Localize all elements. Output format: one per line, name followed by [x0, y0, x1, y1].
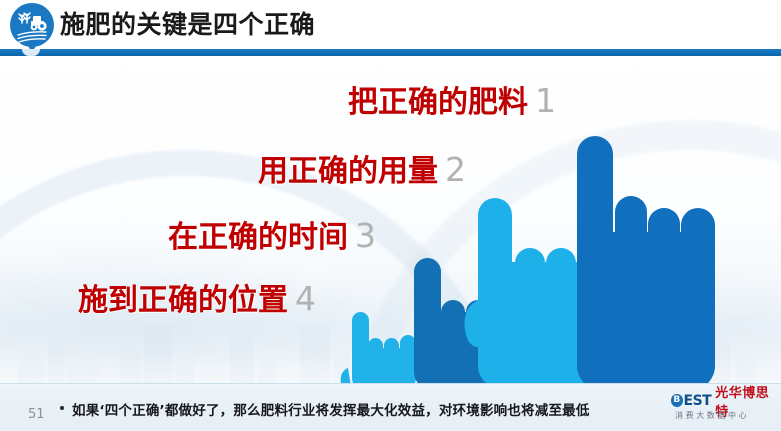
hand-1 — [577, 136, 715, 390]
page-number: 51 — [28, 407, 45, 422]
page-title: 施肥的关键是四个正确 — [60, 8, 315, 42]
brand-tagline: 消费大数据中心 — [675, 410, 749, 421]
farm-pin-logo-icon — [10, 3, 54, 55]
principle-line-2: 用正确的用量2 — [258, 152, 466, 190]
principle-number-3: 3 — [348, 216, 376, 255]
slide-header: 施肥的关键是四个正确 — [0, 0, 781, 56]
footer-bullet-text: 如果‘四个正确’都做好了，那么肥料行业将发挥最大化效益，对环境影响也将减至最低 — [72, 399, 590, 419]
principle-number-2: 2 — [438, 150, 466, 189]
principle-text-1: 把正确的肥料 — [348, 85, 528, 120]
principle-line-1: 把正确的肥料1 — [348, 83, 556, 121]
brand-logo: B EST 光华博思特 消费大数据中心 — [671, 391, 775, 425]
tractor-field-glyph — [10, 3, 54, 47]
principle-line-4: 施到正确的位置4 — [78, 281, 316, 319]
slide-canvas: 施肥的关键是四个正确 把正确的肥料1 用正确的用量2 在正确的时间3 施到正确的… — [0, 0, 781, 431]
principle-number-4: 4 — [288, 279, 316, 318]
principle-number-1: 1 — [528, 81, 556, 120]
footer-band: 51 如果‘四个正确’都做好了，那么肥料行业将发挥最大化效益，对环境影响也将减至… — [0, 383, 781, 431]
brand-mark-icon: B — [671, 394, 683, 407]
four-pointing-hands — [0, 0, 781, 431]
principle-line-3: 在正确的时间3 — [168, 218, 376, 256]
hand-4 — [341, 312, 416, 392]
header-rule — [0, 49, 781, 56]
principle-text-2: 用正确的用量 — [258, 154, 438, 189]
brand-latin: EST — [684, 393, 712, 409]
principle-text-3: 在正确的时间 — [168, 220, 348, 255]
bullet-dot-icon — [60, 406, 64, 410]
principle-text-4: 施到正确的位置 — [78, 283, 288, 318]
